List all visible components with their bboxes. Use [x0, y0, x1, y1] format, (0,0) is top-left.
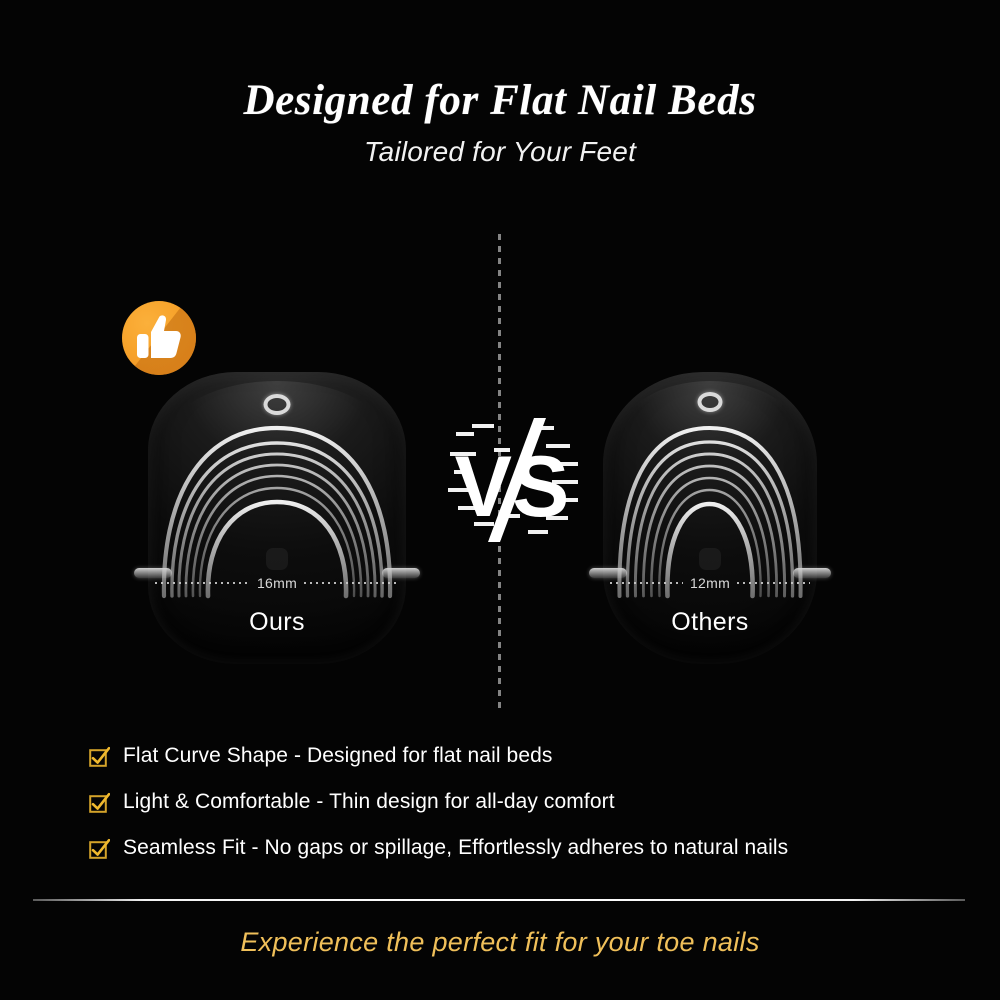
nail-tip-stack-others	[608, 410, 813, 600]
page-subtitle: Tailored for Your Feet	[0, 136, 1000, 168]
ring-icon	[698, 392, 723, 412]
measure-leader-right	[737, 582, 810, 584]
checkbox-checked-icon	[88, 746, 110, 768]
measure-leader-left	[155, 582, 250, 584]
vs-badge: VS	[448, 418, 580, 542]
measure-leader-left	[610, 582, 683, 584]
measurement-value-others: 12mm	[690, 575, 730, 591]
promo-image-root: Designed for Flat Nail Beds Tailored for…	[0, 0, 1000, 1000]
product-panel-ours: 16mm Ours	[132, 372, 422, 668]
feature-list: Flat Curve Shape - Designed for flat nai…	[88, 744, 938, 860]
product-case-others: 12mm Others	[603, 372, 817, 664]
product-case-ours: 16mm Ours	[148, 372, 406, 664]
measure-leader-right	[304, 582, 399, 584]
feature-item: Flat Curve Shape - Designed for flat nai…	[88, 744, 938, 768]
horizontal-divider	[33, 899, 965, 901]
measurement-value-ours: 16mm	[257, 575, 297, 591]
product-panel-others: 12mm Others	[585, 372, 835, 668]
feature-text: Flat Curve Shape - Designed for flat nai…	[123, 744, 553, 767]
checkbox-checked-icon	[88, 838, 110, 860]
feature-item: Seamless Fit - No gaps or spillage, Effo…	[88, 836, 938, 860]
footer-tagline: Experience the perfect fit for your toe …	[0, 927, 1000, 958]
nail-tip-stack-ours	[152, 410, 402, 600]
product-label-ours: Ours	[148, 608, 406, 637]
thumbs-up-icon	[135, 312, 183, 362]
thumbs-up-badge	[122, 301, 196, 375]
feature-text: Light & Comfortable - Thin design for al…	[123, 790, 615, 813]
measurement-others: 12mm	[610, 575, 810, 591]
feature-item: Light & Comfortable - Thin design for al…	[88, 790, 938, 814]
page-title: Designed for Flat Nail Beds	[0, 76, 1000, 125]
feature-text: Seamless Fit - No gaps or spillage, Effo…	[123, 836, 788, 859]
checkbox-checked-icon	[88, 792, 110, 814]
product-label-others: Others	[603, 608, 817, 637]
measurement-ours: 16mm	[155, 575, 399, 591]
